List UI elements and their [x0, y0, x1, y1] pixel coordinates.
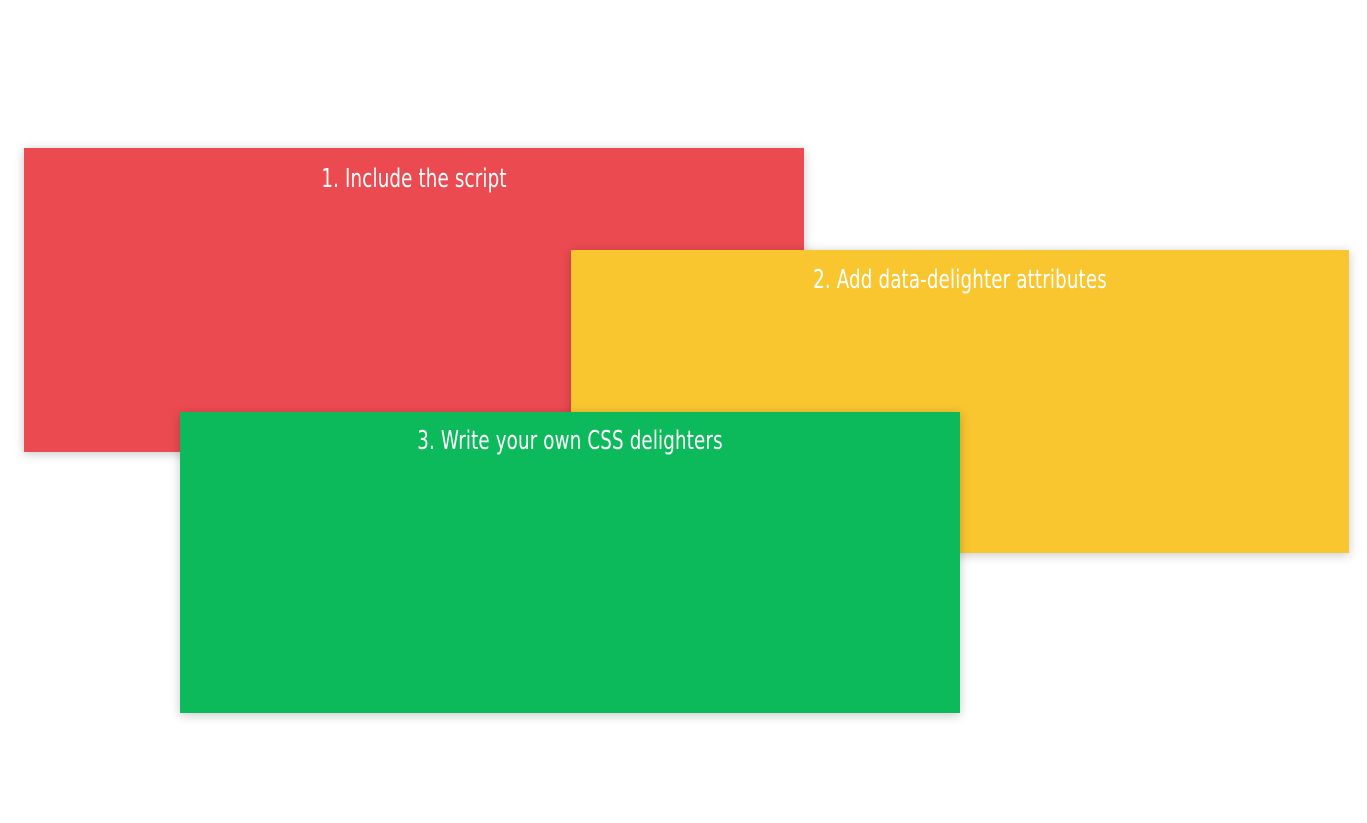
card-title-step-3: 3. Write your own CSS delighters	[266, 428, 874, 454]
card-title-step-1: 1. Include the script	[110, 166, 718, 192]
delighter-card-step-3[interactable]: 3. Write your own CSS delighters	[180, 412, 960, 713]
page-canvas: 1. Include the script 2. Add data-deligh…	[0, 0, 1367, 823]
card-title-step-2: 2. Add data-delighter attributes	[657, 267, 1264, 293]
